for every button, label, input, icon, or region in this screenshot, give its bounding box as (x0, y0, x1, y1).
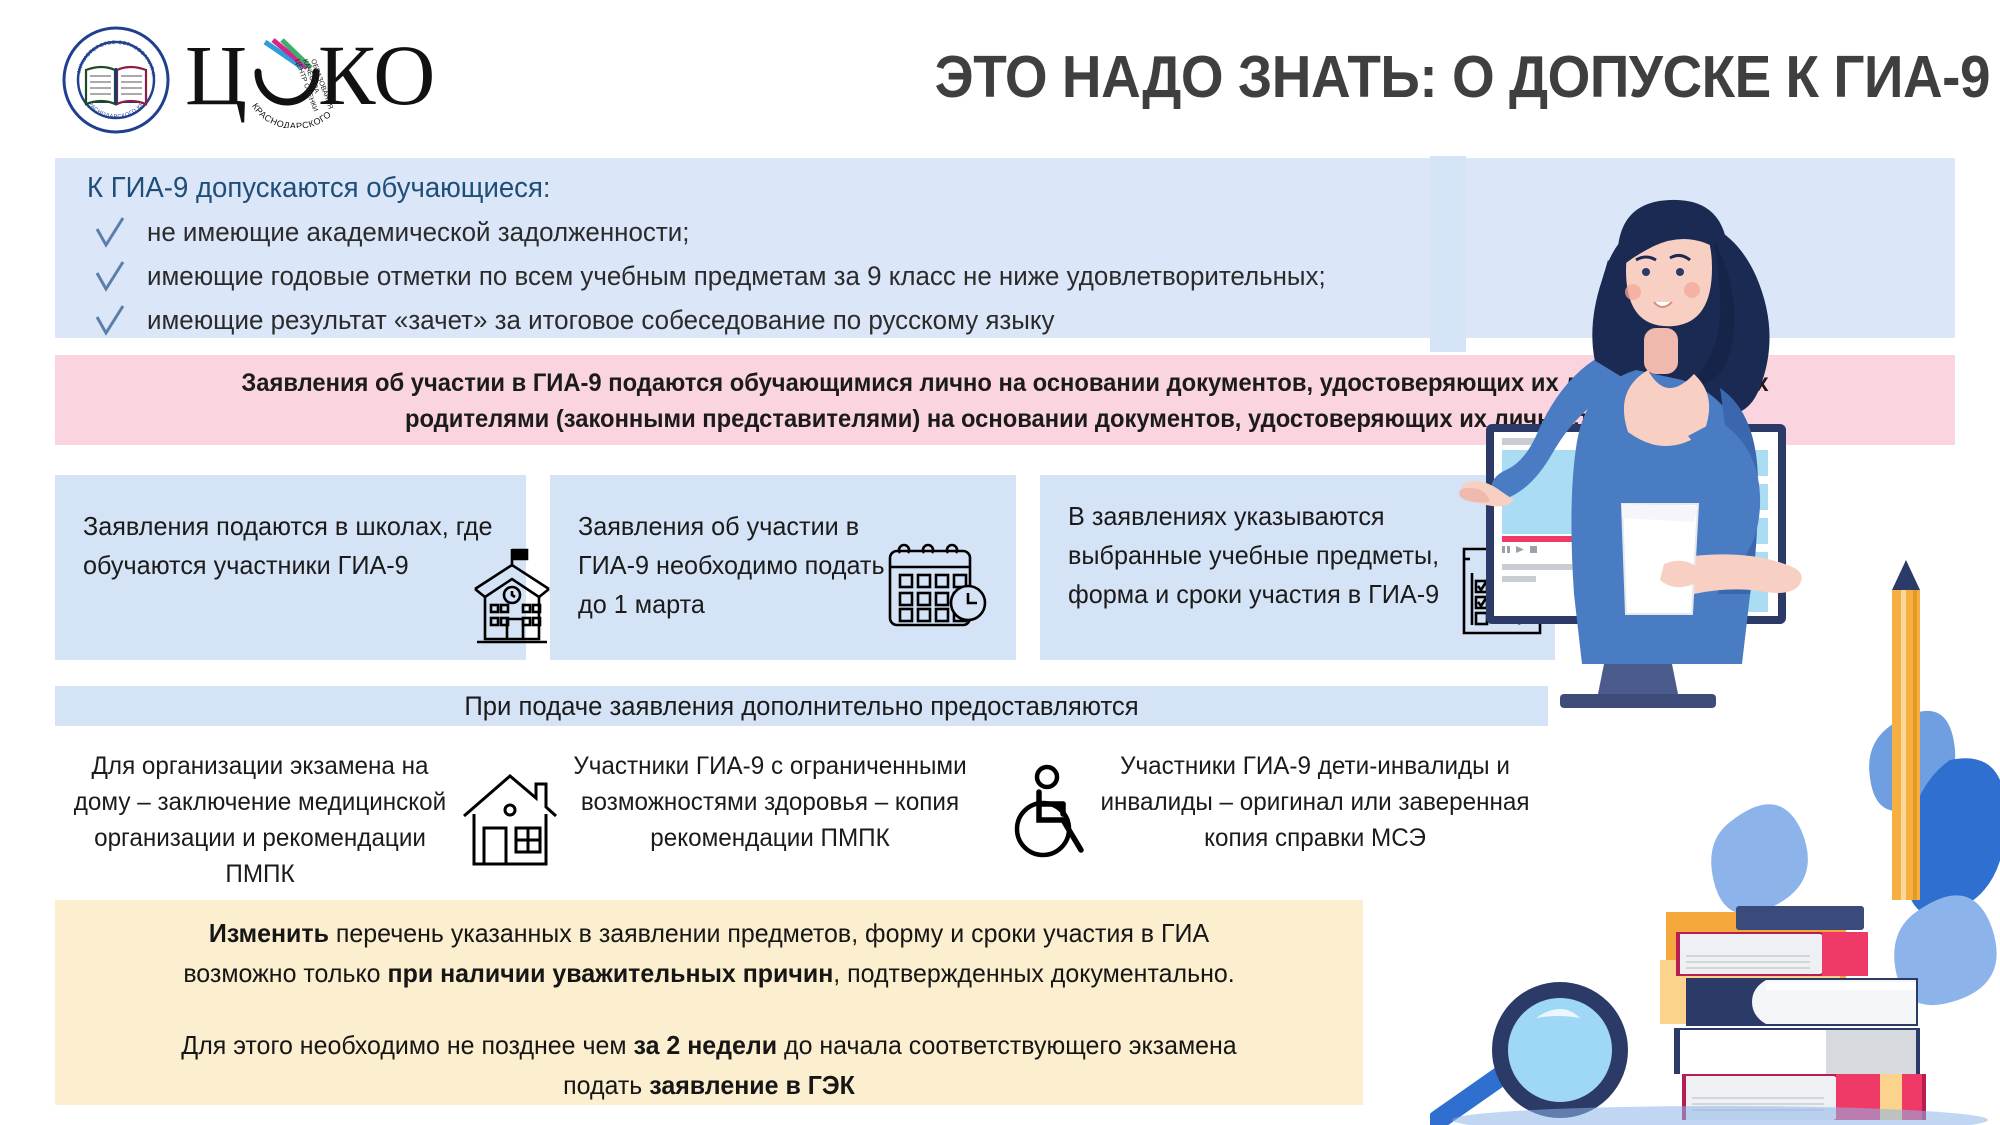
page-title: ЭТО НАДО ЗНАТЬ: О ДОПУСКЕ К ГИА-9 (790, 38, 1990, 116)
extra-home-text: Для организации экзамена на дому – заклю… (66, 748, 454, 892)
yellow-line-4: подать заявление в ГЭК (81, 1070, 1337, 1101)
page-header: МИНИСТЕРСТВО ОБРАЗОВАНИЯ И НАУКИ КРАСНОД… (0, 0, 2000, 140)
yellow-l4-bold: заявление в ГЭК (649, 1070, 855, 1100)
book-stack (1674, 906, 1926, 1120)
card-deadline-text: Заявления об участии в ГИА-9 необходимо … (578, 507, 898, 624)
magnifier-icon (1438, 990, 1620, 1120)
extra-documents-band: При подаче заявления дополнительно предо… (55, 686, 1548, 726)
checkmark-icon (95, 260, 125, 292)
checkmark-icon (95, 304, 125, 336)
teacher-illustration (1430, 120, 2000, 1125)
svg-text:КО: КО (318, 28, 435, 123)
extra-item-home-exam: Для организации экзамена на дому – заклю… (60, 748, 560, 898)
yellow-l2-pre: возможно только (183, 958, 387, 988)
admission-title: К ГИА-9 допускаются обучающиеся: (87, 172, 551, 205)
yellow-l3-post: до начала соответствующего экзамена (777, 1030, 1237, 1060)
extra-band-title: При подаче заявления дополнительно предо… (92, 686, 1510, 726)
ministry-emblem-icon: МИНИСТЕРСТВО ОБРАЗОВАНИЯ И НАУКИ КРАСНОД… (62, 26, 170, 134)
card-schools: Заявления подаются в школах, где обучают… (55, 475, 526, 660)
admission-item-text: имеющие годовые отметки по всем учебным … (147, 258, 1326, 294)
leaf-shape (1711, 804, 1808, 914)
change-application-panel: Изменить перечень указанных в заявлении … (55, 900, 1363, 1105)
admission-item-text: не имеющие академической задолженности; (147, 214, 689, 250)
card-deadline: Заявления об участии в ГИА-9 необходимо … (550, 475, 1016, 660)
yellow-l3-bold: за 2 недели (633, 1030, 777, 1060)
yellow-l3-pre: Для этого необходимо не позднее чем (181, 1030, 633, 1060)
checkmark-icon (95, 216, 125, 248)
yellow-l2-post: , подтвержденных документально. (833, 958, 1234, 988)
yellow-line-2: возможно только при наличии уважительных… (81, 958, 1337, 989)
svg-text:Ц: Ц (185, 28, 247, 123)
yellow-l2-bold: при наличии уважительных причин (387, 958, 833, 988)
extra-ovz-text: Участники ГИА-9 с ограниченными возможно… (566, 748, 973, 856)
yellow-line-3: Для этого необходимо не позднее чем за 2… (81, 1030, 1337, 1061)
coko-logo: Ц ЦЕНТР ОЦЕНКИ КАЧЕСТВА ОБРАЗОВАНИЯ КРАС… (185, 28, 450, 128)
decor-rect (1430, 156, 1466, 352)
admission-item-text: имеющие результат «зачет» за итоговое со… (147, 302, 1055, 338)
card-subjects-text: В заявлениях указываются выбранные учебн… (1068, 497, 1456, 614)
extra-item-ovz: Участники ГИА-9 с ограниченными возможно… (540, 748, 1020, 898)
yellow-line-1: Изменить перечень указанных в заявлении … (81, 918, 1337, 949)
infographic-page: МИНИСТЕРСТВО ОБРАЗОВАНИЯ И НАУКИ КРАСНОД… (0, 0, 2000, 1125)
yellow-l1-bold: Изменить (209, 918, 329, 948)
yellow-l4-pre: подать (563, 1070, 649, 1100)
pencil-icon (1892, 560, 1920, 900)
calendar-clock-icon (880, 537, 992, 637)
school-building-icon (455, 547, 565, 647)
yellow-l1-rest: перечень указанных в заявлении предметов… (329, 918, 1209, 948)
card-schools-text: Заявления подаются в школах, где обучают… (83, 507, 500, 585)
